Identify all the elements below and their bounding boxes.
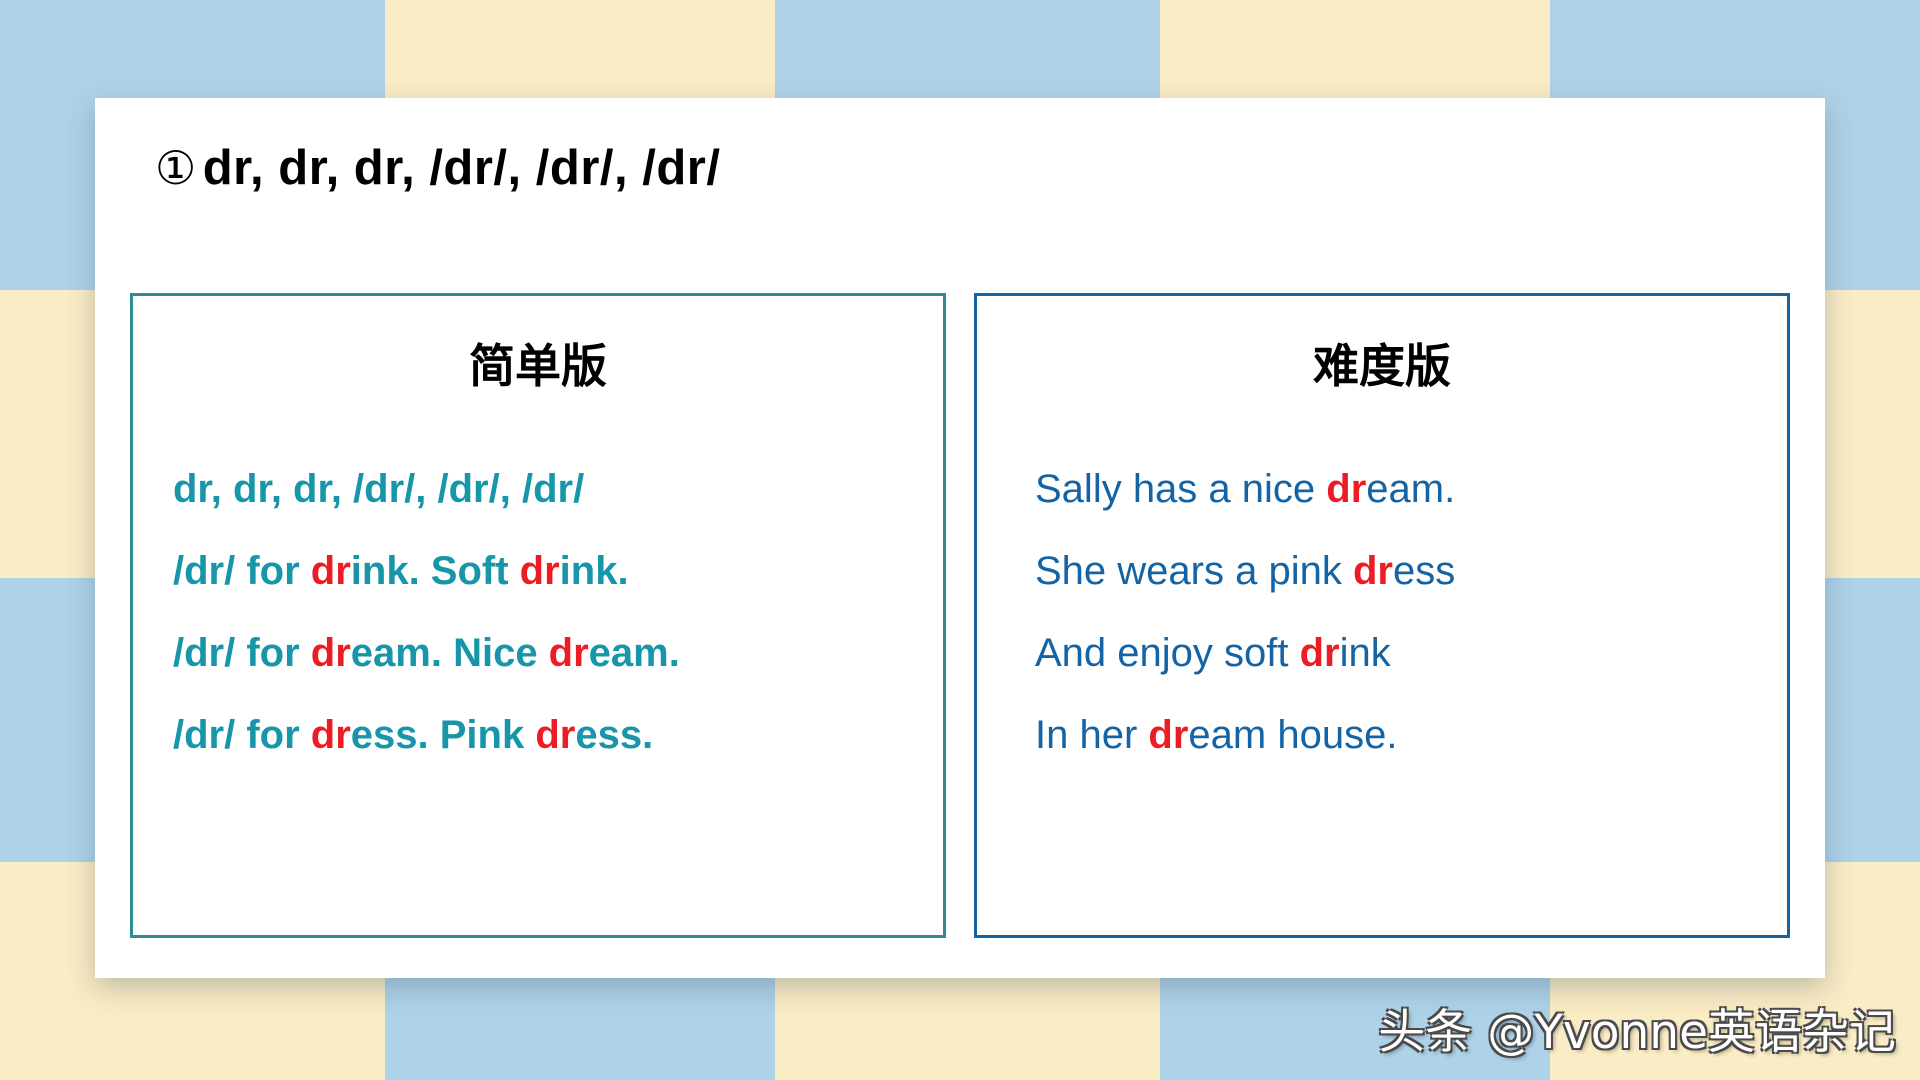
panel-simple-line: /dr/ for drink. Soft drink. <box>173 530 931 612</box>
highlighted-phoneme: dr <box>520 549 560 593</box>
highlighted-phoneme: dr <box>1300 631 1340 675</box>
line-text: Sally has a nice <box>1035 467 1326 511</box>
panel-hard-heading: 难度版 <box>977 330 1787 396</box>
line-text: ink. <box>560 549 629 593</box>
line-text: ink. Soft <box>351 549 520 593</box>
panel-simple-lines: dr, dr, dr, /dr/, /dr/, /dr//dr/ for dri… <box>133 448 943 776</box>
highlighted-phoneme: dr <box>1148 713 1188 757</box>
line-text: eam. <box>589 631 680 675</box>
panels-container: 简单版 dr, dr, dr, /dr/, /dr/, /dr//dr/ for… <box>130 293 1790 938</box>
highlighted-phoneme: dr <box>535 713 575 757</box>
panel-simple: 简单版 dr, dr, dr, /dr/, /dr/, /dr//dr/ for… <box>130 293 946 938</box>
panel-simple-line: dr, dr, dr, /dr/, /dr/, /dr/ <box>173 448 931 530</box>
line-text: /dr/ for <box>173 549 311 593</box>
highlighted-phoneme: dr <box>1353 549 1393 593</box>
line-text: In her <box>1035 713 1148 757</box>
list-marker-icon: ① <box>155 142 197 194</box>
panel-hard-lines: Sally has a nice dream.She wears a pink … <box>977 448 1787 776</box>
panel-simple-heading: 简单版 <box>133 330 943 396</box>
panel-hard-line: She wears a pink dress <box>1035 530 1775 612</box>
highlighted-phoneme: dr <box>311 549 351 593</box>
line-text: eam house. <box>1188 713 1397 757</box>
panel-simple-line: /dr/ for dream. Nice dream. <box>173 612 931 694</box>
panel-simple-line: /dr/ for dress. Pink dress. <box>173 694 931 776</box>
watermark: 头条 @Yvonne英语杂记 <box>1378 993 1896 1062</box>
line-text: /dr/ for <box>173 631 311 675</box>
line-text: ink <box>1340 631 1391 675</box>
line-text: And enjoy soft <box>1035 631 1300 675</box>
line-text: eam. Nice <box>351 631 549 675</box>
line-text: She wears a pink <box>1035 549 1353 593</box>
content-card: ①dr, dr, dr, /dr/, /dr/, /dr/ 简单版 dr, dr… <box>95 98 1825 978</box>
line-text: eam. <box>1366 467 1455 511</box>
panel-hard-line: And enjoy soft drink <box>1035 612 1775 694</box>
line-text: ess <box>1393 549 1455 593</box>
highlighted-phoneme: dr <box>549 631 589 675</box>
page-title: ①dr, dr, dr, /dr/, /dr/, /dr/ <box>155 140 720 196</box>
highlighted-phoneme: dr <box>311 631 351 675</box>
highlighted-phoneme: dr <box>311 713 351 757</box>
line-text: dr, dr, dr, /dr/, /dr/, /dr/ <box>173 467 584 511</box>
panel-hard-line: In her dream house. <box>1035 694 1775 776</box>
panel-hard-line: Sally has a nice dream. <box>1035 448 1775 530</box>
line-text: ess. <box>575 713 653 757</box>
panel-hard: 难度版 Sally has a nice dream.She wears a p… <box>974 293 1790 938</box>
line-text: /dr/ for <box>173 713 311 757</box>
highlighted-phoneme: dr <box>1326 467 1366 511</box>
page-title-text: dr, dr, dr, /dr/, /dr/, /dr/ <box>203 141 721 195</box>
line-text: ess. Pink <box>351 713 536 757</box>
